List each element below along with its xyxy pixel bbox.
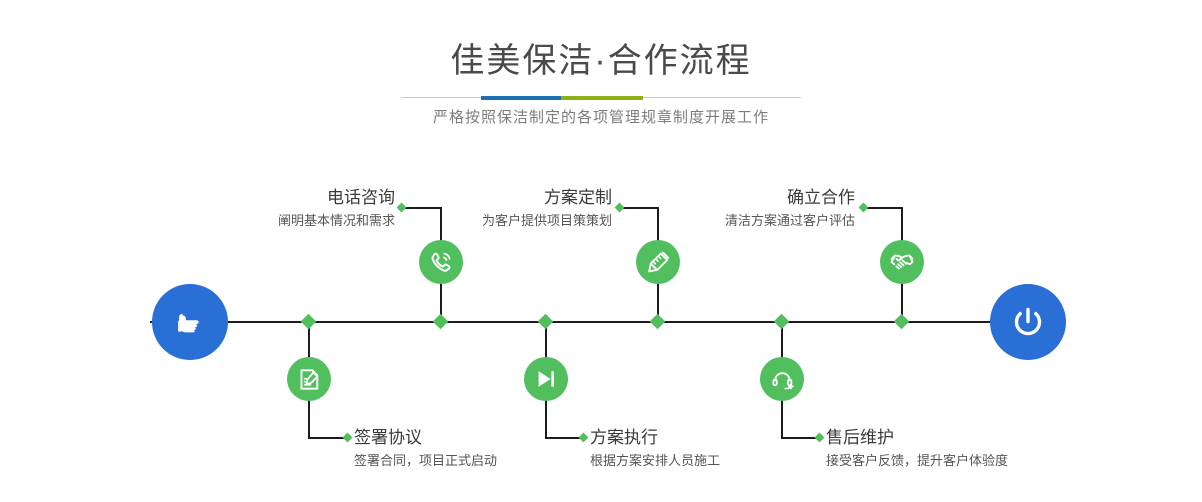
- step-title-2: 签署协议: [354, 428, 614, 448]
- axis-marker-5: [894, 314, 910, 330]
- step-label-4: 方案执行 根据方案安排人员施工: [590, 428, 850, 470]
- axis-marker-3: [650, 314, 666, 330]
- step-label-3: 方案定制 为客户提供项目策策划: [370, 188, 612, 230]
- axis-marker-4: [538, 314, 554, 330]
- step-label-1: 电话咨询 阐明基本情况和需求: [150, 188, 395, 230]
- step-desc-4: 根据方案安排人员施工: [590, 452, 850, 470]
- phone-call-icon: [428, 249, 454, 275]
- handshake-icon: [889, 249, 915, 275]
- step-desc-3: 为客户提供项目策策划: [370, 212, 612, 230]
- step-title-6: 售后维护: [826, 428, 1106, 448]
- step-title-1: 电话咨询: [150, 188, 395, 208]
- page-subtitle: 严格按照保洁制定的各项管理规章制度开展工作: [0, 106, 1202, 127]
- start-node[interactable]: [152, 284, 228, 360]
- step-label-6: 售后维护 接受客户反馈，提升客户体验度: [826, 428, 1106, 470]
- step-node-1[interactable]: [419, 240, 463, 284]
- step-desc-6: 接受客户反馈，提升客户体验度: [826, 452, 1106, 470]
- connector-arm-5: [864, 207, 902, 209]
- connector-tip-2: [343, 433, 353, 443]
- document-edit-icon: [297, 367, 322, 392]
- play-forward-icon: [534, 367, 558, 391]
- page-title: 佳美保洁·合作流程: [0, 44, 1202, 78]
- axis-marker-2: [301, 314, 317, 330]
- step-title-3: 方案定制: [370, 188, 612, 208]
- connector-arm-2: [308, 437, 347, 439]
- step-title-5: 确立合作: [615, 188, 855, 208]
- divider-segment-blue: [481, 96, 561, 100]
- timeline-axis: [150, 321, 1052, 323]
- power-icon: [1007, 301, 1049, 343]
- step-desc-5: 清洁方案通过客户评估: [615, 212, 855, 230]
- divider-segment-green: [561, 96, 643, 100]
- connector-tip-5: [859, 203, 869, 213]
- step-label-2: 签署协议 签署合同，项目正式启动: [354, 428, 614, 470]
- flow-diagram: 佳美保洁·合作流程 严格按照保洁制定的各项管理规章制度开展工作: [0, 0, 1202, 502]
- step-node-4[interactable]: [524, 357, 568, 401]
- step-desc-1: 阐明基本情况和需求: [150, 212, 395, 230]
- step-title-4: 方案执行: [590, 428, 850, 448]
- headset-support-icon: [770, 367, 795, 392]
- step-node-6[interactable]: [760, 357, 804, 401]
- step-desc-2: 签署合同，项目正式启动: [354, 452, 614, 470]
- step-label-5: 确立合作 清洁方案通过客户评估: [615, 188, 855, 230]
- title-divider: [401, 96, 801, 100]
- end-node[interactable]: [990, 284, 1066, 360]
- step-node-2[interactable]: [287, 357, 331, 401]
- pointing-hand-icon: [170, 302, 210, 342]
- axis-marker-1: [433, 314, 449, 330]
- step-node-3[interactable]: [636, 240, 680, 284]
- step-node-5[interactable]: [880, 240, 924, 284]
- axis-marker-6: [774, 314, 790, 330]
- pencil-ruler-icon: [646, 250, 671, 275]
